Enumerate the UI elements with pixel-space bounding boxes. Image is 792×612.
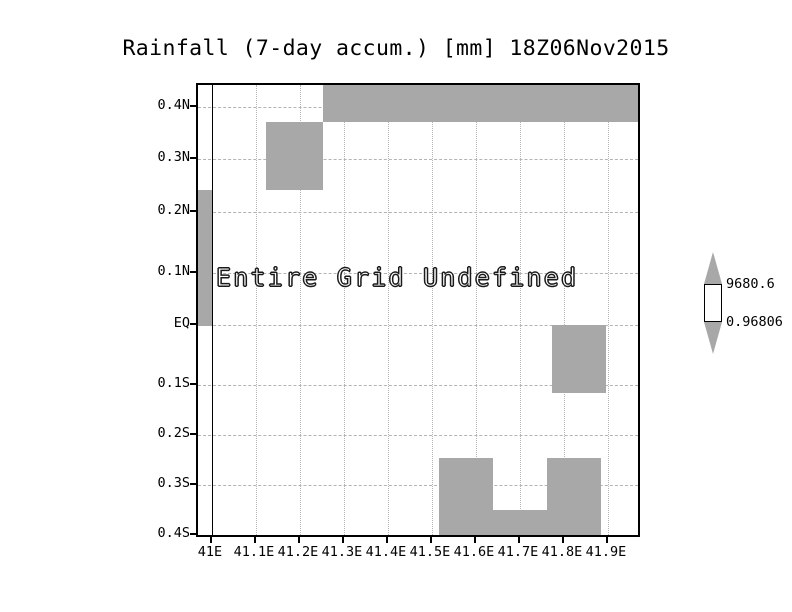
x-axis-tick [254,537,256,543]
x-axis-label-group: 41E 41.1E 41.2E 41.3E 41.4E 41.5E 41.6E … [196,544,640,568]
y-axis-tick [190,105,196,107]
colorbar-mid-swatch [704,284,722,322]
colorbar-under-range-triangle-icon [704,322,722,354]
y-axis-tick [190,433,196,435]
y-axis-tick [190,271,196,273]
y-axis-tick-label: 0.4S [128,525,190,541]
axis-tick-layer [196,83,640,537]
y-axis-tick [190,157,196,159]
colorbar-max-label: 9680.6 [726,276,775,292]
y-axis-tick [190,483,196,485]
x-axis-tick [562,537,564,543]
x-axis-tick-label: 41.9E [571,544,641,560]
colorbar: 9680.6 0.96806 [700,252,726,354]
colorbar-min-label: 0.96806 [726,314,783,330]
y-axis-tick-label: 0.4N [128,97,190,113]
y-axis-tick [190,323,196,325]
y-axis-tick-label: 0.2S [128,425,190,441]
x-axis-tick [298,537,300,543]
y-axis-tick-label: 0.1N [128,263,190,279]
x-axis-tick [518,537,520,543]
y-axis-label-group: 0.4N 0.3N 0.2N 0.1N EQ 0.1S 0.2S 0.3S 0.… [124,83,190,537]
colorbar-over-range-triangle-icon [704,252,722,284]
page-title: Rainfall (7-day accum.) [mm] 18Z06Nov201… [0,36,792,61]
grid-undefined-annotation: Entire Grid Undefined [216,263,578,292]
x-axis-tick [210,537,212,543]
x-axis-tick [606,537,608,543]
y-axis-tick-label: EQ [128,315,190,331]
y-axis-tick [190,383,196,385]
y-axis-tick [190,210,196,212]
y-axis-tick-label: 0.3S [128,475,190,491]
x-axis-tick [342,537,344,543]
x-axis-tick [386,537,388,543]
x-axis-tick [474,537,476,543]
x-axis-tick [430,537,432,543]
y-axis-tick-label: 0.1S [128,375,190,391]
y-axis-tick-label: 0.2N [128,202,190,218]
y-axis-tick [190,533,196,535]
y-axis-tick-label: 0.3N [128,149,190,165]
